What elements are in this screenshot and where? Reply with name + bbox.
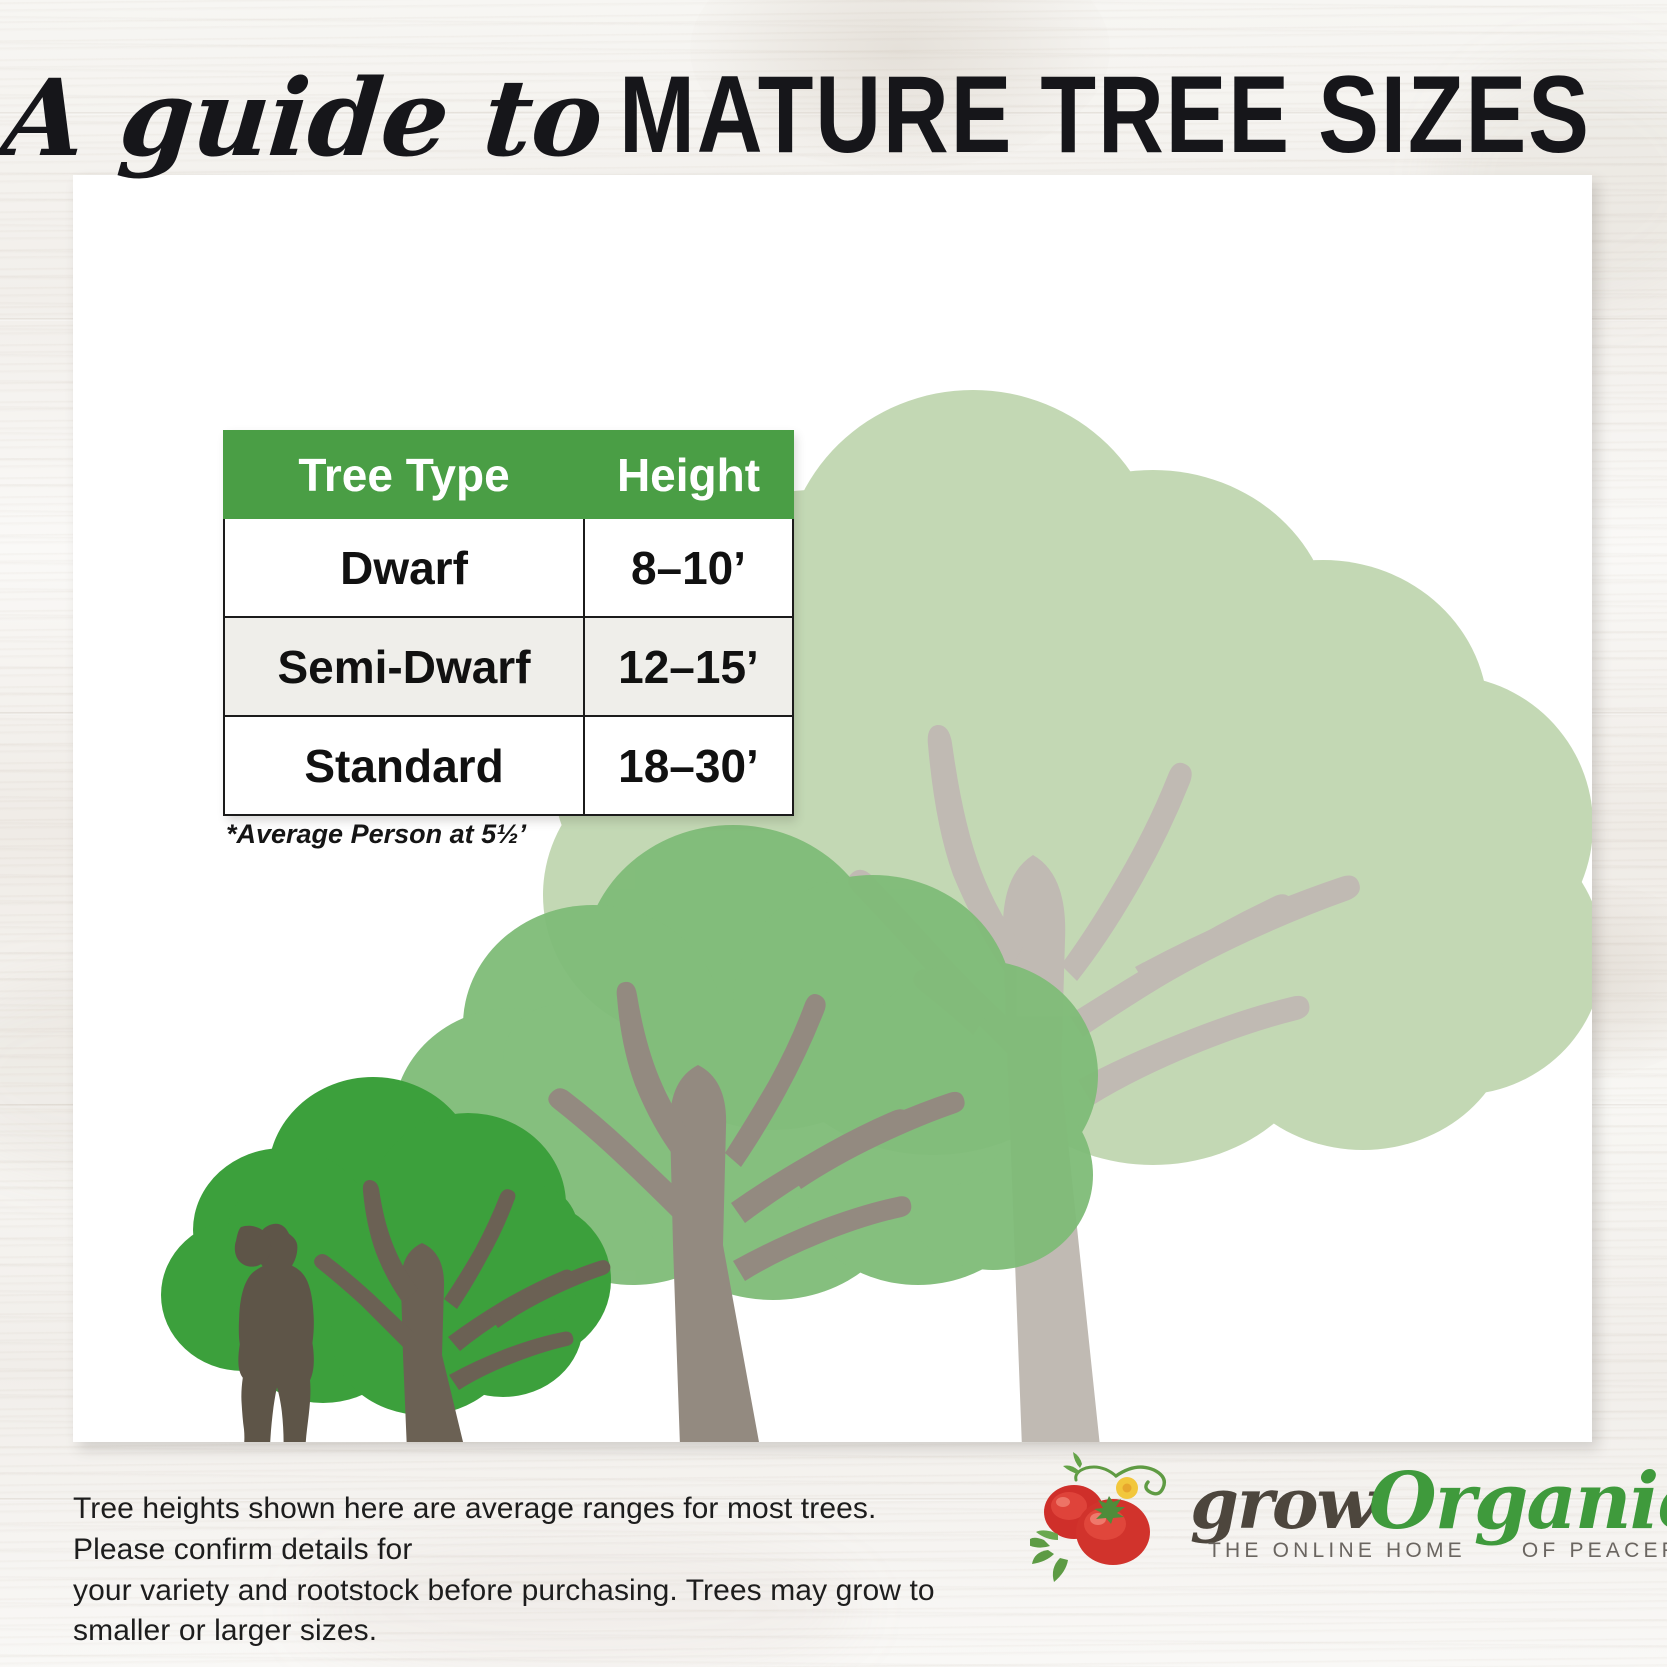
logo-organic-text: Organic <box>1369 1456 1667 1547</box>
table-header-row: Tree Type Height <box>224 431 793 518</box>
cell-tree-type: Standard <box>224 716 584 815</box>
logo-tagline-left: THE ONLINE HOME <box>1208 1539 1466 1562</box>
logo-wordmark: growOrganic.com <box>1190 1456 1667 1547</box>
table-row: Standard 18–30’ <box>224 716 793 815</box>
cell-height: 12–15’ <box>584 617 793 716</box>
table-row: Dwarf 8–10’ <box>224 518 793 617</box>
content-card: Tree Type Height Dwarf 8–10’ Semi-Dwarf … <box>73 175 1592 1442</box>
table-row: Semi-Dwarf 12–15’ <box>224 617 793 716</box>
logo-grow-text: grow <box>1190 1462 1375 1545</box>
cell-tree-type: Dwarf <box>224 518 584 617</box>
table-footnote: *Average Person at 5½’ <box>226 819 526 850</box>
footer-line-2: your variety and rootstock before purcha… <box>73 1571 973 1653</box>
logo-tagline-right: OF PEACEFUL VALLEY <box>1522 1539 1667 1562</box>
tomato-vine-icon <box>1030 1446 1205 1586</box>
footer-disclaimer: Tree heights shown here are average rang… <box>73 1489 973 1652</box>
cell-tree-type: Semi-Dwarf <box>224 617 584 716</box>
infographic-root: Tree Type Height Dwarf 8–10’ Semi-Dwarf … <box>0 0 1667 1667</box>
footer-line-1: Tree heights shown here are average rang… <box>73 1489 973 1571</box>
column-header-tree-type: Tree Type <box>224 431 584 518</box>
column-header-height: Height <box>584 431 793 518</box>
tree-size-table: Tree Type Height Dwarf 8–10’ Semi-Dwarf … <box>223 430 792 816</box>
cell-height: 8–10’ <box>584 518 793 617</box>
brand-logo[interactable]: growOrganic.com THE ONLINE HOMEOF PEACEF… <box>1030 1438 1600 1588</box>
logo-tagline: THE ONLINE HOMEOF PEACEFUL VALLEY <box>1208 1539 1667 1563</box>
cell-height: 18–30’ <box>584 716 793 815</box>
